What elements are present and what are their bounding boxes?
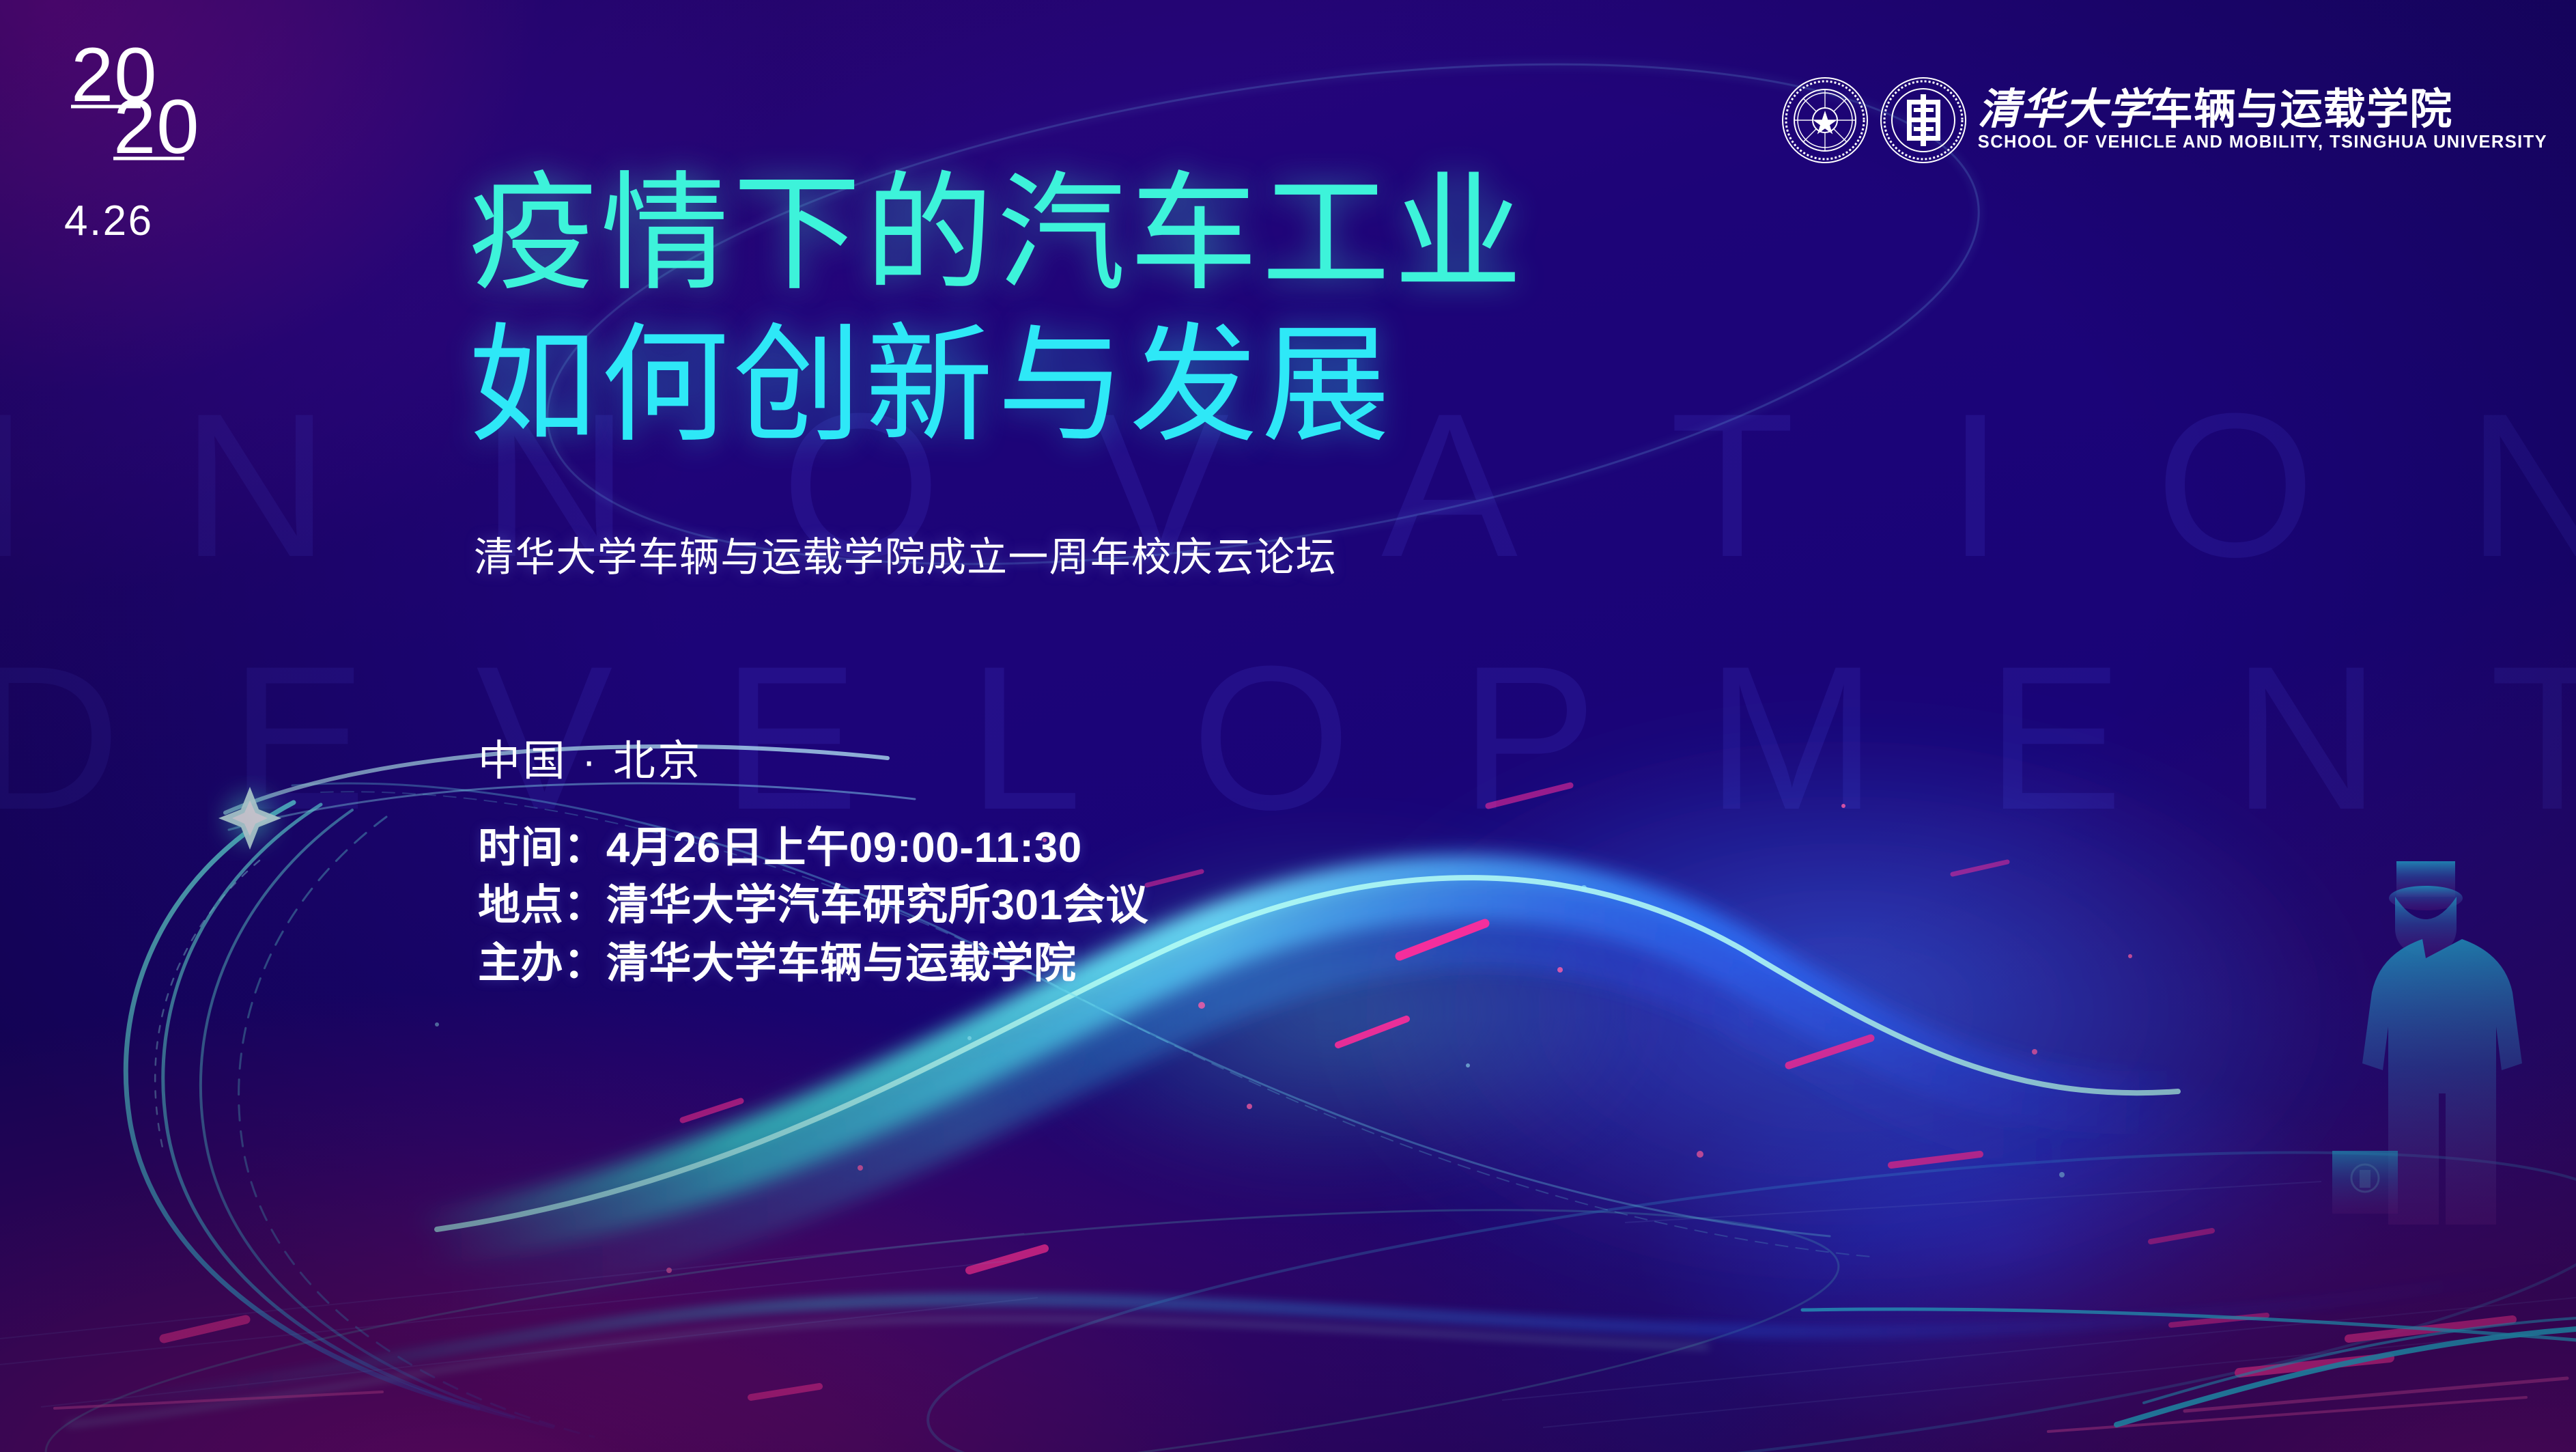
date-mark-graphic: 20 20: [53, 36, 258, 199]
tsinghua-logo-lockup: 清华大学车辆与运载学院 SCHOOL OF VEHICLE AND MOBILI…: [1781, 76, 2547, 164]
year-bottom-text: 20: [113, 84, 200, 169]
headline-line-1: 疫情下的汽车工业: [468, 158, 1526, 310]
logo-chinese-block: 车辆与运载学院: [2151, 86, 2453, 133]
school-of-vehicle-and-mobility-emblem-icon: [1880, 76, 1967, 164]
detail-row-host: 主办：清华大学车辆与运载学院: [478, 938, 1148, 989]
detail-row-venue: 地点：清华大学汽车研究所301会议: [478, 880, 1148, 931]
city-label: 中国 · 北京: [478, 726, 703, 787]
logo-english-text: SCHOOL OF VEHICLE AND MOBILITY, TSINGHUA…: [1978, 132, 2547, 152]
event-details-list: 时间：4月26日上午09:00-11:30 地点：清华大学汽车研究所301会议 …: [478, 823, 1148, 989]
tsinghua-university-seal-icon: [1781, 76, 1869, 164]
subtitle: 清华大学车辆与运载学院成立一周年校庆云论坛: [474, 525, 1337, 583]
logo-chinese-text: 清华大学车辆与运载学院: [1978, 89, 2547, 131]
headline-line-2: 如何创新与发展: [468, 310, 1526, 462]
detail-row-time: 时间：4月26日上午09:00-11:30: [478, 823, 1148, 874]
event-poster: I N N O V A T I O N D E V E L O P M E N …: [0, 0, 2576, 1452]
date-day-label: 4.26: [64, 197, 154, 245]
logo-chinese-script: 清华大学: [1978, 87, 2151, 133]
page-title: 疫情下的汽车工业 如何创新与发展: [468, 158, 1526, 462]
